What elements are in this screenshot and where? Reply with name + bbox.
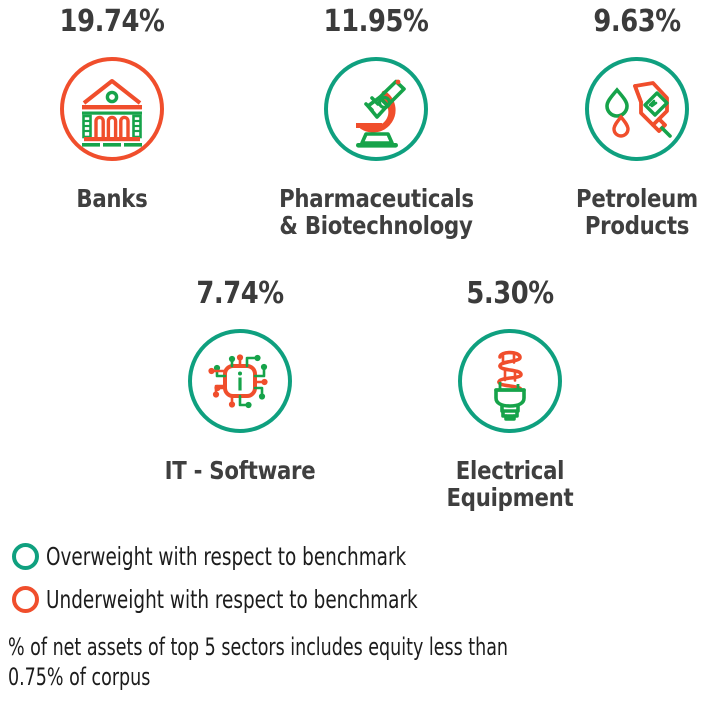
sector-icon-wrap-pharmaceuticals [262,55,490,163]
microscope-icon [322,55,430,163]
fuel-nozzle-icon [583,55,691,163]
sector-card-it-software: 7.74% [140,277,340,484]
sector-card-petroleum: 9.63% Pet [540,5,727,239]
legend-item-underweight: Underweight with respect to benchmark [12,586,499,613]
sector-icon-wrap-petroleum [540,55,727,163]
sector-card-pharmaceuticals: 11.95% [262,5,490,239]
sector-label-petroleum: Petroleum Products [555,185,720,239]
sector-percent-banks: 19.74% [26,5,198,39]
sector-icon-wrap-electrical-equipment [410,327,610,435]
sector-label-electrical-equipment: Electrical Equipment [425,457,595,511]
legend-item-overweight: Overweight with respect to benchmark [12,543,485,570]
cfl-bulb-icon [456,327,564,435]
sector-percent-electrical-equipment: 5.30% [424,277,596,311]
footnote-text: % of net assets of top 5 sectors include… [8,632,705,692]
legend-label-underweight: Underweight with respect to benchmark [46,586,418,613]
sector-percent-it-software: 7.74% [154,277,326,311]
sector-label-pharmaceuticals: Pharmaceuticals & Biotechnology [279,185,473,239]
sector-label-banks: Banks [27,185,197,212]
sector-card-banks: 19.74% [12,5,212,212]
sector-icon-wrap-it-software [140,327,340,435]
legend-label-overweight: Overweight with respect to benchmark [46,543,406,570]
infographic-stage: 19.74% [0,0,727,710]
sector-icon-wrap-banks [12,55,212,163]
underweight-circle-icon [12,586,39,613]
bank-icon [58,55,166,163]
sector-card-electrical-equipment: 5.30% [410,277,610,511]
sector-percent-pharmaceuticals: 11.95% [278,5,474,39]
microchip-icon [186,327,294,435]
overweight-circle-icon [12,543,39,570]
sector-percent-petroleum: 9.63% [554,5,721,39]
sector-label-it-software: IT - Software [155,457,325,484]
